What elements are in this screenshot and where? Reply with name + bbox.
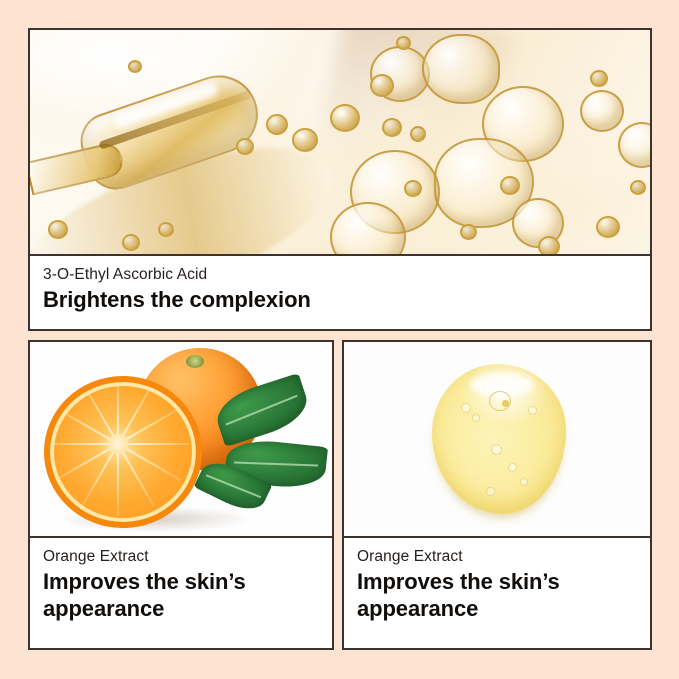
oil-bubble-small — [538, 236, 560, 256]
orange-navel — [186, 355, 204, 368]
gel-micro-bubble — [472, 414, 480, 422]
oil-bubble-small — [266, 114, 288, 135]
hero-caption: 3-O-Ethyl Ascorbic Acid Brightens the co… — [30, 256, 650, 313]
oil-bubble — [580, 90, 624, 132]
gel-micro-bubble — [491, 444, 502, 455]
ingredient-card-orange-right[interactable]: Orange Extract Improves the skin’s appea… — [342, 340, 652, 650]
orange-left-caption: Orange Extract Improves the skin’s appea… — [30, 538, 332, 622]
oil-bubble-small — [500, 176, 520, 195]
oil-bubble-small — [596, 216, 620, 238]
oil-bubble-small — [370, 74, 394, 97]
gel-micro-bubble — [508, 463, 517, 472]
hero-ingredient-name: 3-O-Ethyl Ascorbic Acid — [43, 265, 637, 284]
leaf-vein — [226, 395, 298, 425]
oil-bubble-small — [460, 224, 477, 240]
oil-bubble-small — [590, 70, 608, 87]
oil-bubble-small — [382, 118, 402, 137]
ingredient-card-orange-left[interactable]: Orange Extract Improves the skin’s appea… — [28, 340, 334, 650]
oil-bubble-small — [630, 180, 646, 195]
oil-bubble-small — [396, 36, 411, 50]
gel-micro-bubble — [502, 400, 509, 407]
serum-texture-image — [30, 30, 650, 256]
orange-right-caption: Orange Extract Improves the skin’s appea… — [344, 538, 650, 622]
leaf-vein — [234, 462, 318, 466]
oil-bubble-small — [404, 180, 422, 197]
leaf-vein — [205, 474, 260, 497]
gel-drop-image — [344, 342, 650, 538]
orange-right-benefit-headline: Improves the skin’s appearance — [357, 568, 607, 622]
orange-right-ingredient-name: Orange Extract — [357, 547, 637, 566]
oil-bubble-small — [292, 128, 318, 152]
ingredient-benefit-board: 3-O-Ethyl Ascorbic Acid Brightens the co… — [28, 28, 652, 650]
oil-bubble-small — [236, 138, 254, 155]
oil-bubble-small — [128, 60, 142, 73]
gel-micro-bubble — [520, 478, 528, 486]
oil-bubble — [422, 34, 500, 104]
orange-fruit-image — [30, 342, 332, 538]
oil-bubble-small — [122, 234, 140, 251]
oil-bubble-small — [158, 222, 174, 237]
oil-bubble-small — [48, 220, 68, 239]
gel-micro-bubble — [486, 487, 495, 496]
oil-bubble-small — [330, 104, 360, 132]
oil-bubble-small — [410, 126, 426, 142]
gel-micro-bubble — [461, 403, 471, 413]
orange-left-benefit-headline: Improves the skin’s appearance — [43, 568, 293, 622]
gel-micro-bubble — [528, 406, 537, 415]
orange-left-ingredient-name: Orange Extract — [43, 547, 319, 566]
halved-orange-icon — [44, 376, 202, 528]
hero-benefit-headline: Brightens the complexion — [43, 286, 637, 313]
ingredient-card-hero[interactable]: 3-O-Ethyl Ascorbic Acid Brightens the co… — [28, 28, 652, 331]
